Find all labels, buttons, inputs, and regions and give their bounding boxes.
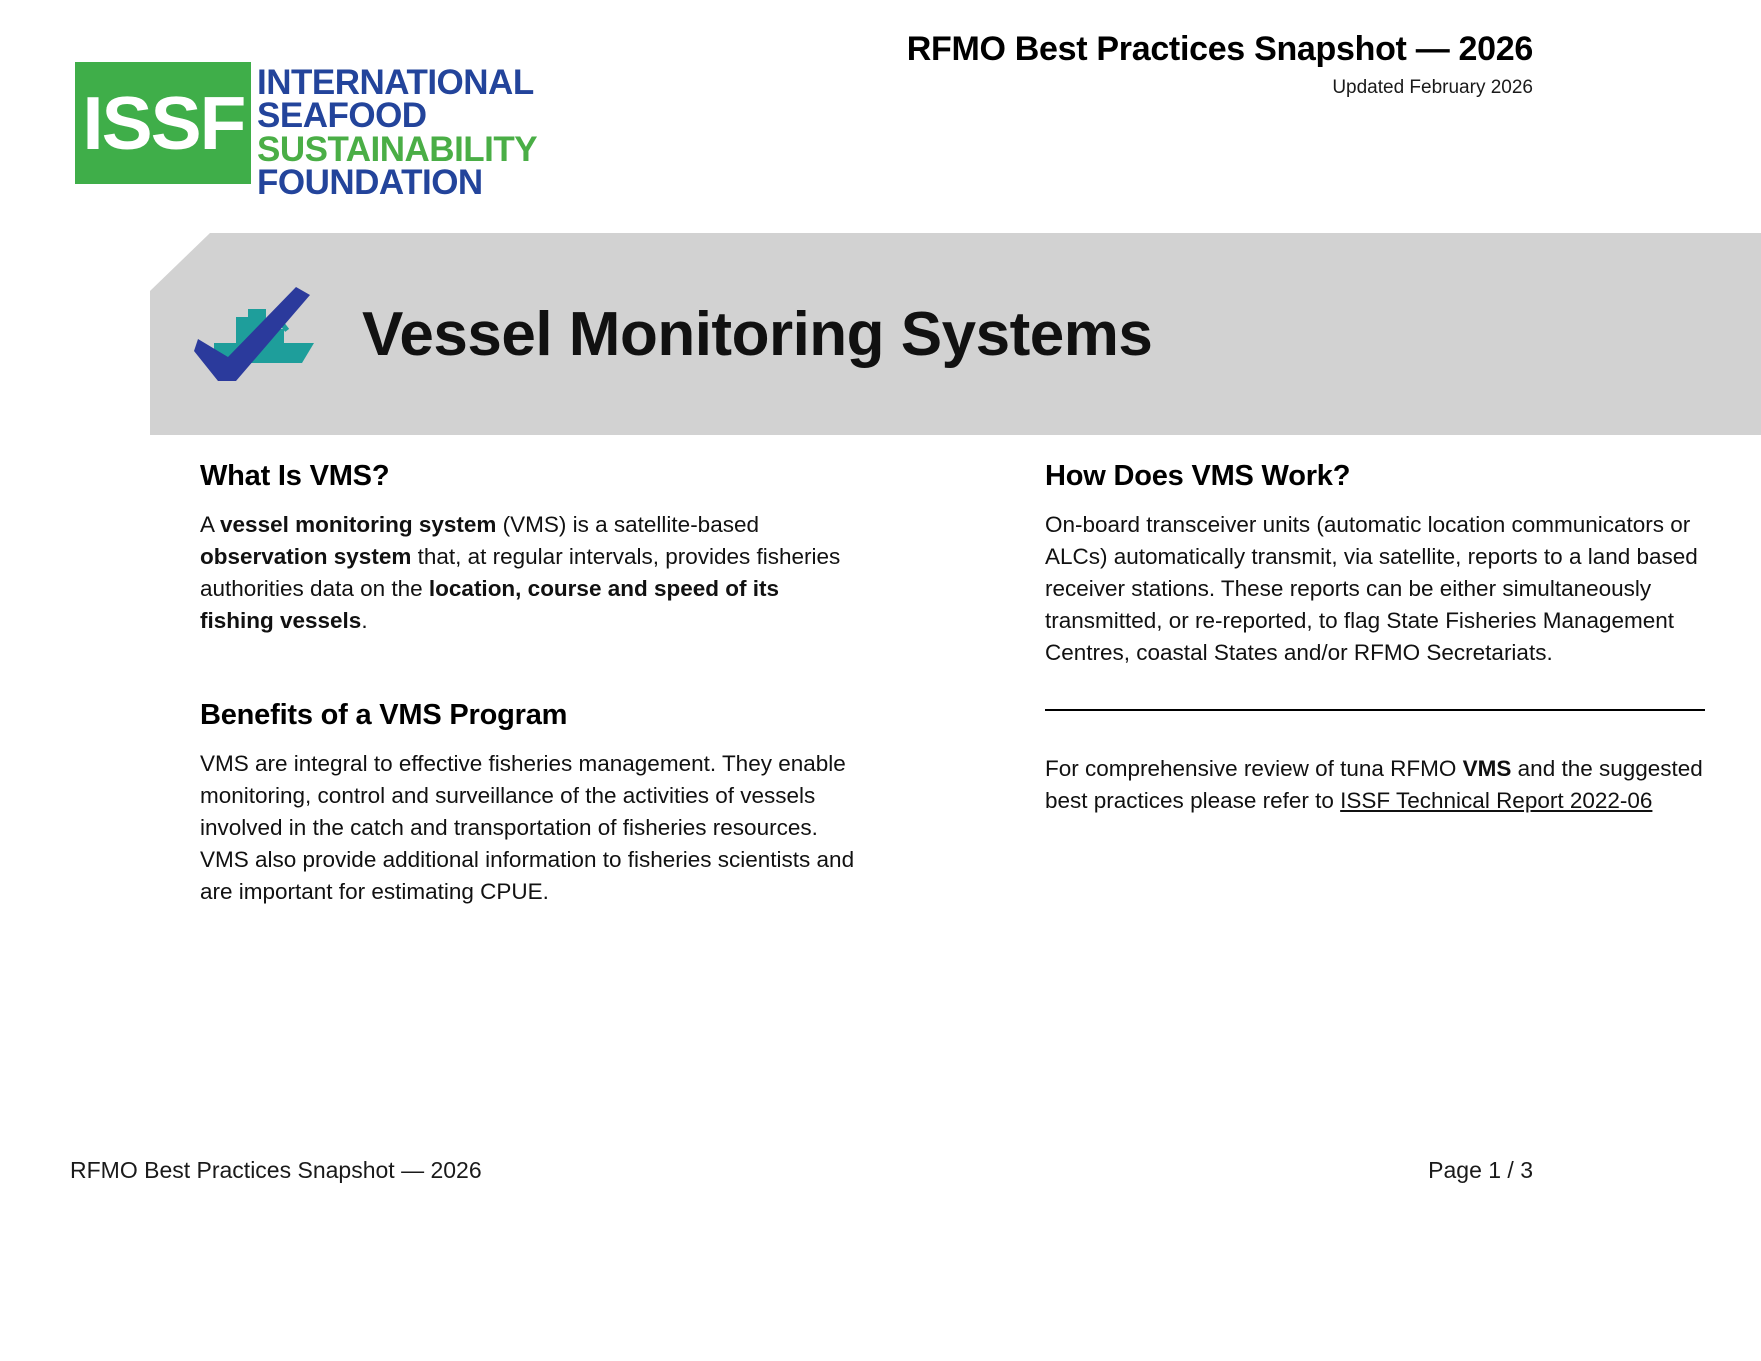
logo-word-foundation: FOUNDATION [257, 166, 537, 199]
plain-text: On-board transceiver units (automatic lo… [1045, 512, 1698, 665]
footer-page-number: Page 1 / 3 [1428, 1157, 1533, 1184]
footer-document-title: RFMO Best Practices Snapshot — 2026 [70, 1157, 482, 1184]
boat-with-checkmark-icon [192, 277, 332, 392]
paragraph-how-does-vms-work: On-board transceiver units (automatic lo… [1045, 509, 1705, 669]
page-footer: RFMO Best Practices Snapshot — 2026 Page… [0, 1157, 1761, 1193]
logo-word-sustainability: SUSTAINABILITY [257, 133, 537, 166]
logo-word-seafood: SEAFOOD [257, 99, 537, 132]
logo-word-international: INTERNATIONAL [257, 66, 537, 99]
issf-logo-mark: ISSF [75, 62, 251, 184]
heading-what-is-vms: What Is VMS? [200, 460, 855, 493]
right-column: How Does VMS Work? On-board transceiver … [1045, 460, 1705, 817]
left-column: What Is VMS? A vessel monitoring system … [200, 460, 855, 907]
paragraph-reference: For comprehensive review of tuna RFMO VM… [1045, 753, 1705, 817]
document-page: ISSF INTERNATIONAL SEAFOOD SUSTAINABILIT… [0, 0, 1761, 1361]
reference-block: For comprehensive review of tuna RFMO VM… [1045, 753, 1705, 817]
heading-how-does-vms-work: How Does VMS Work? [1045, 460, 1705, 493]
plain-text: . [361, 608, 367, 633]
plain-text: VMS are integral to effective fisheries … [200, 751, 854, 904]
plain-text: (VMS) is a satellite-based [496, 512, 759, 537]
paragraph-benefits-of-vms: VMS are integral to effective fisheries … [200, 748, 855, 908]
reference-link[interactable]: ISSF Technical Report 2022-06 [1340, 788, 1652, 813]
document-updated-date: Updated February 2026 [907, 77, 1533, 99]
heading-benefits-of-vms: Benefits of a VMS Program [200, 699, 855, 732]
emphasis-text: vessel monitoring system [220, 512, 496, 537]
emphasis-text: observation system [200, 544, 411, 569]
plain-text: For comprehensive review of tuna RFMO [1045, 756, 1463, 781]
plain-text: A [200, 512, 220, 537]
section-divider [1045, 709, 1705, 711]
page-header: ISSF INTERNATIONAL SEAFOOD SUSTAINABILIT… [0, 0, 1761, 215]
section-banner: Vessel Monitoring Systems [150, 233, 1761, 435]
document-title: RFMO Best Practices Snapshot — 2026 [907, 30, 1533, 69]
emphasis-text: VMS [1463, 756, 1512, 781]
banner-title: Vessel Monitoring Systems [362, 299, 1152, 370]
paragraph-what-is-vms: A vessel monitoring system (VMS) is a sa… [200, 509, 855, 637]
issf-logo: ISSF INTERNATIONAL SEAFOOD SUSTAINABILIT… [75, 62, 537, 199]
issf-logo-mark-text: ISSF [82, 86, 244, 161]
header-title-block: RFMO Best Practices Snapshot — 2026 Upda… [907, 30, 1533, 99]
issf-logo-wordmark: INTERNATIONAL SEAFOOD SUSTAINABILITY FOU… [257, 66, 537, 199]
